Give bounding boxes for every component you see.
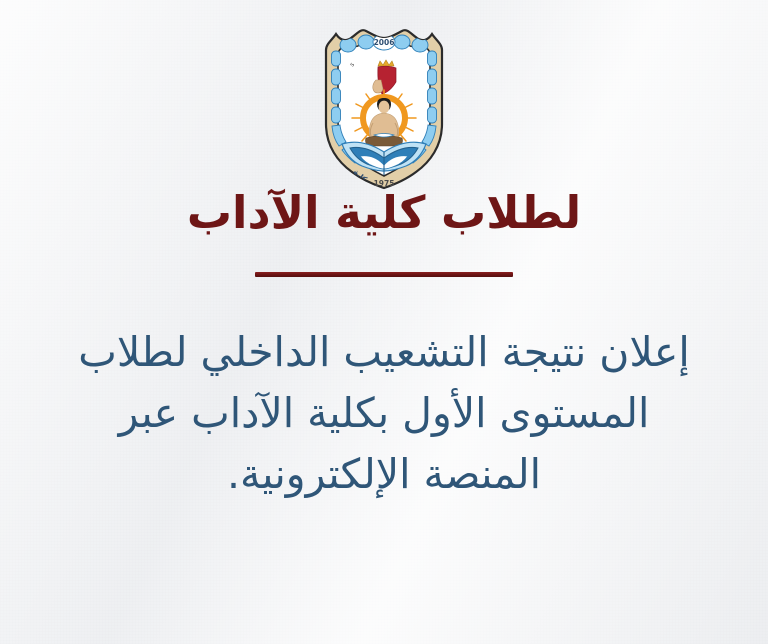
faculty-logo: 2006 جامعة سوهاج جامعة سوهاج xyxy=(318,20,450,190)
announcement-line-2: المستوى الأول بكلية الآداب عبر xyxy=(0,383,768,444)
page-title: لطلاب كلية الآداب xyxy=(0,184,768,242)
logo-right-arc-text: جامعة سوهاج xyxy=(318,20,321,22)
figure-face xyxy=(379,101,390,114)
svg-text:جامعة سوهاج: جامعة سوهاج xyxy=(318,20,321,22)
announcement-line-3: المنصة الإلكترونية. xyxy=(0,444,768,505)
hand-shape xyxy=(373,80,383,93)
announcement-line-1: إعلان نتيجة التشعيب الداخلي لطلاب xyxy=(0,322,768,383)
logo-left-arc-text: جامعة سوهاج xyxy=(318,20,321,22)
announcement-poster: 2006 جامعة سوهاج جامعة سوهاج xyxy=(0,0,768,644)
section-divider xyxy=(255,272,513,277)
logo-year-top: 2006 xyxy=(373,34,395,50)
announcement-body: إعلان نتيجة التشعيب الداخلي لطلاب المستو… xyxy=(0,322,768,505)
divider-row xyxy=(0,272,768,277)
svg-text:جامعة سوهاج: جامعة سوهاج xyxy=(318,20,321,22)
faculty-of-arts-shield-emblem-icon: 2006 جامعة سوهاج جامعة سوهاج xyxy=(318,20,450,190)
logo-year-top-text: 2006 xyxy=(374,38,395,47)
